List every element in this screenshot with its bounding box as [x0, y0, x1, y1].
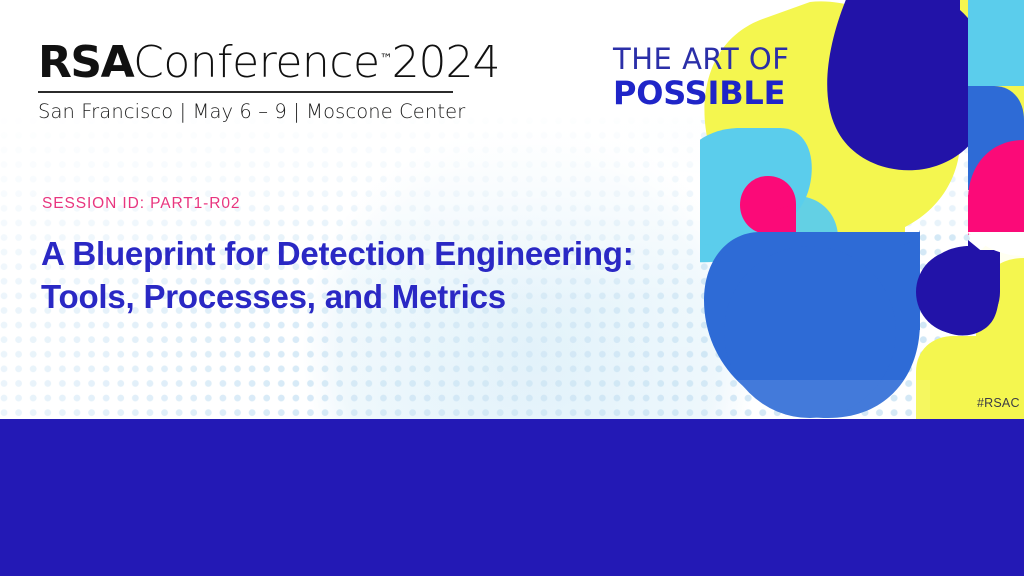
tagline-line-2: POSSIBLE	[613, 75, 789, 111]
slide-canvas: RSAConference™2024 San Francisco | May 6…	[0, 0, 1024, 576]
tagline-line-1: THE ART OF	[613, 44, 789, 74]
logo-rsa-text: RSA	[38, 37, 133, 88]
rsac-hashtag: #RSAC	[977, 396, 1020, 410]
logo-conference-text: Conference	[133, 37, 379, 88]
logo-year-text: 2024	[392, 37, 500, 88]
cyan-strip	[968, 0, 1024, 86]
logo-divider	[38, 91, 453, 93]
art-of-possible-tagline: THE ART OF POSSIBLE	[613, 44, 789, 111]
logo-subtitle: San Francisco | May 6 – 9 | Moscone Cent…	[38, 100, 458, 123]
speaker-band	[0, 419, 1024, 576]
rsa-conference-logo: RSAConference™2024 San Francisco | May 6…	[38, 36, 458, 123]
page-title: A Blueprint for Detection Engineering: T…	[41, 232, 681, 318]
logo-wordmark: RSAConference™2024	[38, 36, 458, 87]
session-id-label: SESSION ID: PART1-R02	[42, 195, 240, 213]
trademark-icon: ™	[380, 52, 392, 67]
